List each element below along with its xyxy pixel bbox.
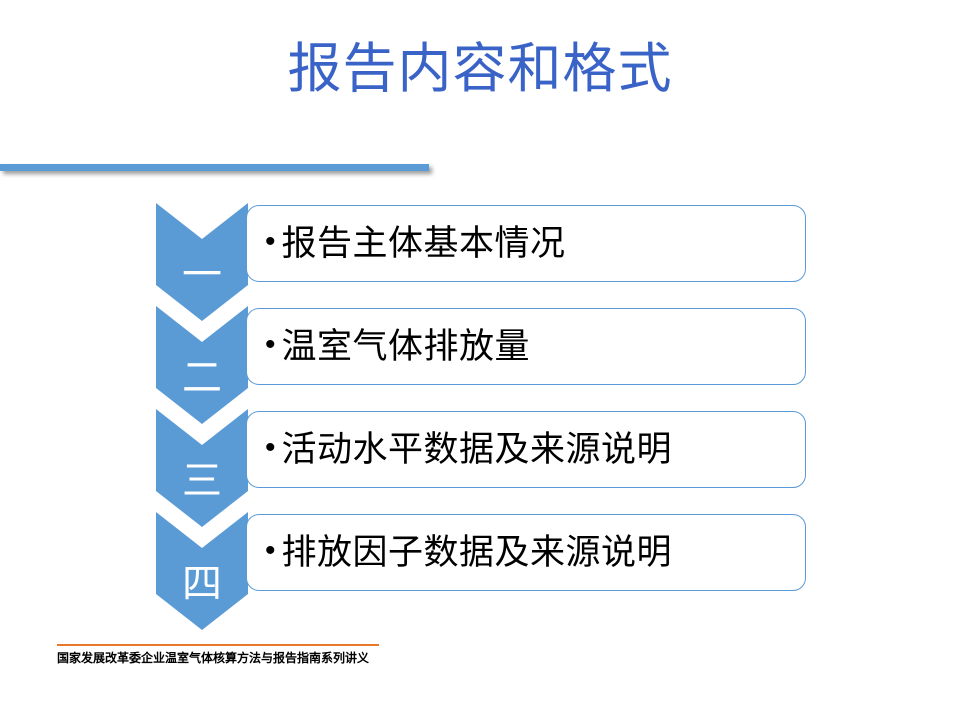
list-item-label: 排放因子数据及来源说明 (282, 533, 673, 573)
bullet-icon: • (265, 227, 276, 257)
list-item-label: 报告主体基本情况 (282, 224, 566, 264)
list-item-box[interactable]: • 报告主体基本情况 (246, 205, 806, 282)
list-item[interactable]: 四 • 排放因子数据及来源说明 (0, 512, 960, 614)
list-item-label: 活动水平数据及来源说明 (282, 430, 673, 470)
list-item[interactable]: 三 • 活动水平数据及来源说明 (0, 409, 960, 511)
chevron-marker-3: 三 (156, 409, 248, 527)
slide-footer: 国家发展改革委企业温室气体核算方法与报告指南系列讲义 (57, 644, 387, 666)
list-item[interactable]: 二 • 温室气体排放量 (0, 306, 960, 408)
list-item-label: 温室气体排放量 (282, 327, 531, 367)
chevron-marker-1: 一 (156, 203, 248, 321)
slide: 报告内容和格式 一 • 报告主体基本情况 (0, 0, 960, 720)
chevron-number-label: 一 (156, 203, 248, 321)
footer-label: 国家发展改革委企业温室气体核算方法与报告指南系列讲义 (57, 650, 387, 666)
chevron-marker-4: 四 (156, 512, 248, 630)
footer-divider-line (57, 644, 379, 646)
bullet-icon: • (265, 330, 276, 360)
list-item-box[interactable]: • 排放因子数据及来源说明 (246, 514, 806, 591)
chevron-marker-2: 二 (156, 306, 248, 424)
list-item-box[interactable]: • 温室气体排放量 (246, 308, 806, 385)
chevron-number-label: 二 (156, 306, 248, 424)
chevron-list-diagram: 一 • 报告主体基本情况 二 • 温室气体排放量 (0, 0, 960, 720)
bullet-icon: • (265, 536, 276, 566)
bullet-icon: • (265, 433, 276, 463)
list-item-box[interactable]: • 活动水平数据及来源说明 (246, 411, 806, 488)
list-item[interactable]: 一 • 报告主体基本情况 (0, 203, 960, 305)
chevron-number-label: 三 (156, 409, 248, 527)
chevron-number-label: 四 (156, 512, 248, 630)
